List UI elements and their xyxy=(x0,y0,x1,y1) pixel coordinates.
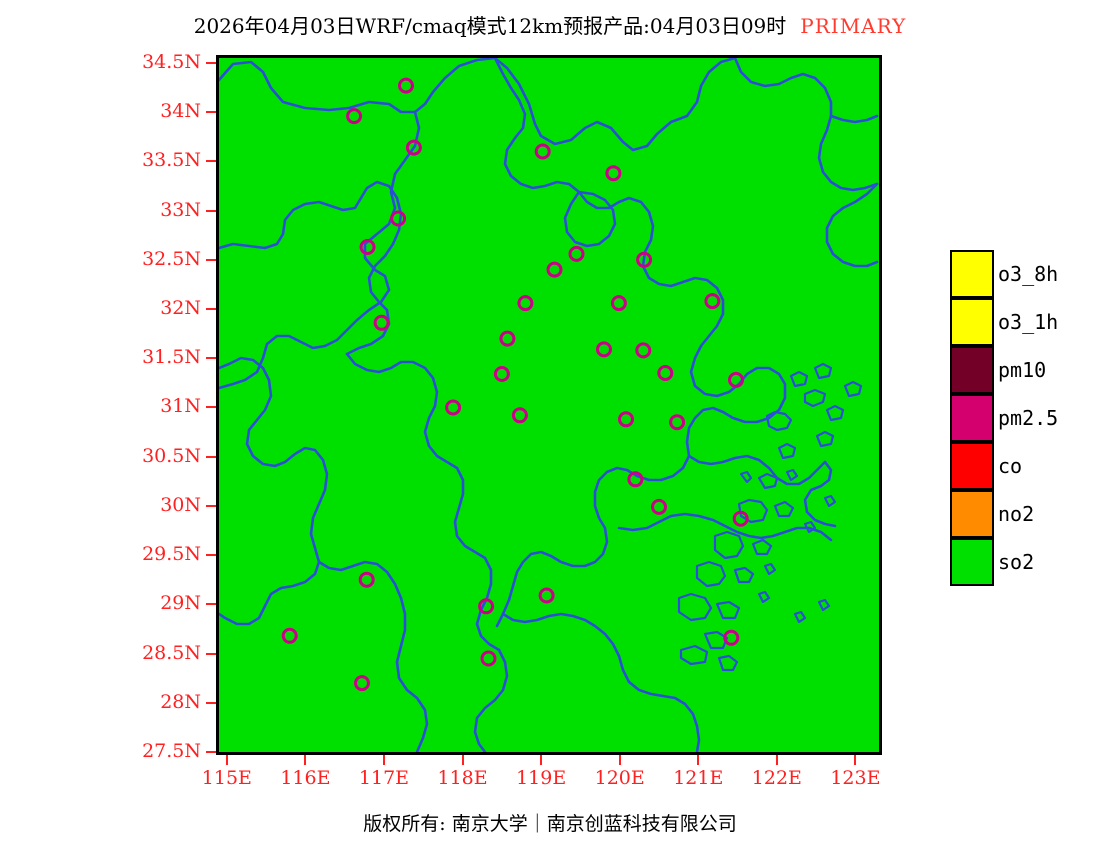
station-marker[interactable] xyxy=(637,344,650,357)
y-axis-label: 34N xyxy=(66,102,201,121)
y-axis-tick xyxy=(206,357,216,359)
y-axis-label: 33N xyxy=(66,201,201,220)
legend-swatch-pm2-5[interactable] xyxy=(950,394,994,442)
page-title: 2026年04月03日WRF/cmaq模式12km预报产品:04月03日09时P… xyxy=(0,14,1100,38)
station-marker[interactable] xyxy=(659,367,672,380)
legend-label-pm2-5: pm2.5 xyxy=(998,408,1058,428)
page-title-text: 2026年04月03日WRF/cmaq模式12km预报产品:04月03日09时 xyxy=(194,14,787,38)
legend-swatch-so2[interactable] xyxy=(950,538,994,586)
legend-label-o3-8h: o3_8h xyxy=(998,264,1058,284)
x-axis-tick xyxy=(383,755,385,765)
station-marker[interactable] xyxy=(548,263,561,276)
map-plot-area[interactable] xyxy=(216,55,882,755)
station-marker[interactable] xyxy=(360,573,373,586)
station-marker[interactable] xyxy=(536,145,549,158)
x-axis-label: 118E xyxy=(418,769,508,788)
station-marker[interactable] xyxy=(570,247,583,260)
legend-swatch-no2[interactable] xyxy=(950,490,994,538)
x-axis-tick xyxy=(619,755,621,765)
x-axis-tick xyxy=(854,755,856,765)
y-axis-label: 32.5N xyxy=(66,250,201,269)
station-marker[interactable] xyxy=(540,589,553,602)
station-marker[interactable] xyxy=(447,401,460,414)
station-marker[interactable] xyxy=(482,652,495,665)
station-marker[interactable] xyxy=(400,79,413,92)
x-axis-label: 120E xyxy=(575,769,665,788)
station-marker[interactable] xyxy=(501,332,514,345)
y-axis-label: 29.5N xyxy=(66,545,201,564)
y-axis-tick xyxy=(206,160,216,162)
station-marker[interactable] xyxy=(348,110,361,123)
x-axis-tick xyxy=(776,755,778,765)
legend-swatch-co[interactable] xyxy=(950,442,994,490)
station-marker[interactable] xyxy=(612,297,625,310)
station-marker[interactable] xyxy=(607,167,620,180)
station-marker[interactable] xyxy=(653,500,666,513)
forecast-map-page: 2026年04月03日WRF/cmaq模式12km预报产品:04月03日09时P… xyxy=(0,0,1100,850)
y-axis-label: 27.5N xyxy=(66,742,201,761)
x-axis-label: 115E xyxy=(182,769,272,788)
y-axis-tick xyxy=(206,505,216,507)
y-axis-label: 34.5N xyxy=(66,53,201,72)
x-axis-label: 119E xyxy=(496,769,586,788)
y-axis-label: 31.5N xyxy=(66,348,201,367)
y-axis-tick xyxy=(206,210,216,212)
legend-label-no2: no2 xyxy=(998,504,1034,524)
y-axis-label: 32N xyxy=(66,299,201,318)
station-marker[interactable] xyxy=(356,677,369,690)
y-axis-label: 30N xyxy=(66,496,201,515)
x-axis-tick xyxy=(462,755,464,765)
station-marker[interactable] xyxy=(598,343,611,356)
x-axis-label: 123E xyxy=(810,769,900,788)
y-axis-tick xyxy=(206,308,216,310)
y-axis-tick xyxy=(206,554,216,556)
x-axis-label: 116E xyxy=(260,769,350,788)
legend-label-o3-1h: o3_1h xyxy=(998,312,1058,332)
y-axis-tick xyxy=(206,259,216,261)
x-axis-tick xyxy=(540,755,542,765)
page-title-primary-badge: PRIMARY xyxy=(786,14,906,38)
x-axis-tick xyxy=(304,755,306,765)
station-marker[interactable] xyxy=(730,373,743,386)
y-axis-label: 30.5N xyxy=(66,447,201,466)
y-axis-tick xyxy=(206,751,216,753)
station-marker[interactable] xyxy=(392,212,405,225)
y-axis-tick xyxy=(206,456,216,458)
station-marker[interactable] xyxy=(671,416,684,429)
station-marker[interactable] xyxy=(283,629,296,642)
y-axis-label: 29N xyxy=(66,594,201,613)
y-axis-tick xyxy=(206,653,216,655)
x-axis-label: 117E xyxy=(339,769,429,788)
station-marker-layer xyxy=(283,79,747,690)
x-axis-label: 122E xyxy=(732,769,822,788)
legend[interactable]: o3_8ho3_1hpm10pm2.5cono2so2 xyxy=(950,250,994,586)
station-marker[interactable] xyxy=(706,295,719,308)
legend-swatch-o3-1h[interactable] xyxy=(950,298,994,346)
y-axis-label: 31N xyxy=(66,397,201,416)
station-marker[interactable] xyxy=(375,316,388,329)
x-axis-tick xyxy=(697,755,699,765)
y-axis-tick xyxy=(206,406,216,408)
map-vector-layer xyxy=(219,58,879,752)
legend-label-so2: so2 xyxy=(998,552,1034,572)
x-axis-tick xyxy=(226,755,228,765)
y-axis-tick xyxy=(206,111,216,113)
y-axis-label: 28N xyxy=(66,693,201,712)
y-axis-tick xyxy=(206,62,216,64)
legend-swatch-pm10[interactable] xyxy=(950,346,994,394)
legend-swatch-o3-8h[interactable] xyxy=(950,250,994,298)
station-marker[interactable] xyxy=(620,413,633,426)
station-marker[interactable] xyxy=(513,409,526,422)
station-marker[interactable] xyxy=(495,368,508,381)
y-axis-label: 33.5N xyxy=(66,151,201,170)
y-axis-label: 28.5N xyxy=(66,644,201,663)
y-axis-tick xyxy=(206,702,216,704)
x-axis-label: 121E xyxy=(653,769,743,788)
station-marker[interactable] xyxy=(519,297,532,310)
legend-label-co: co xyxy=(998,456,1022,476)
y-axis-tick xyxy=(206,603,216,605)
copyright-footer: 版权所有: 南京大学｜南京创蓝科技有限公司 xyxy=(0,812,1100,836)
legend-label-pm10: pm10 xyxy=(998,360,1046,380)
